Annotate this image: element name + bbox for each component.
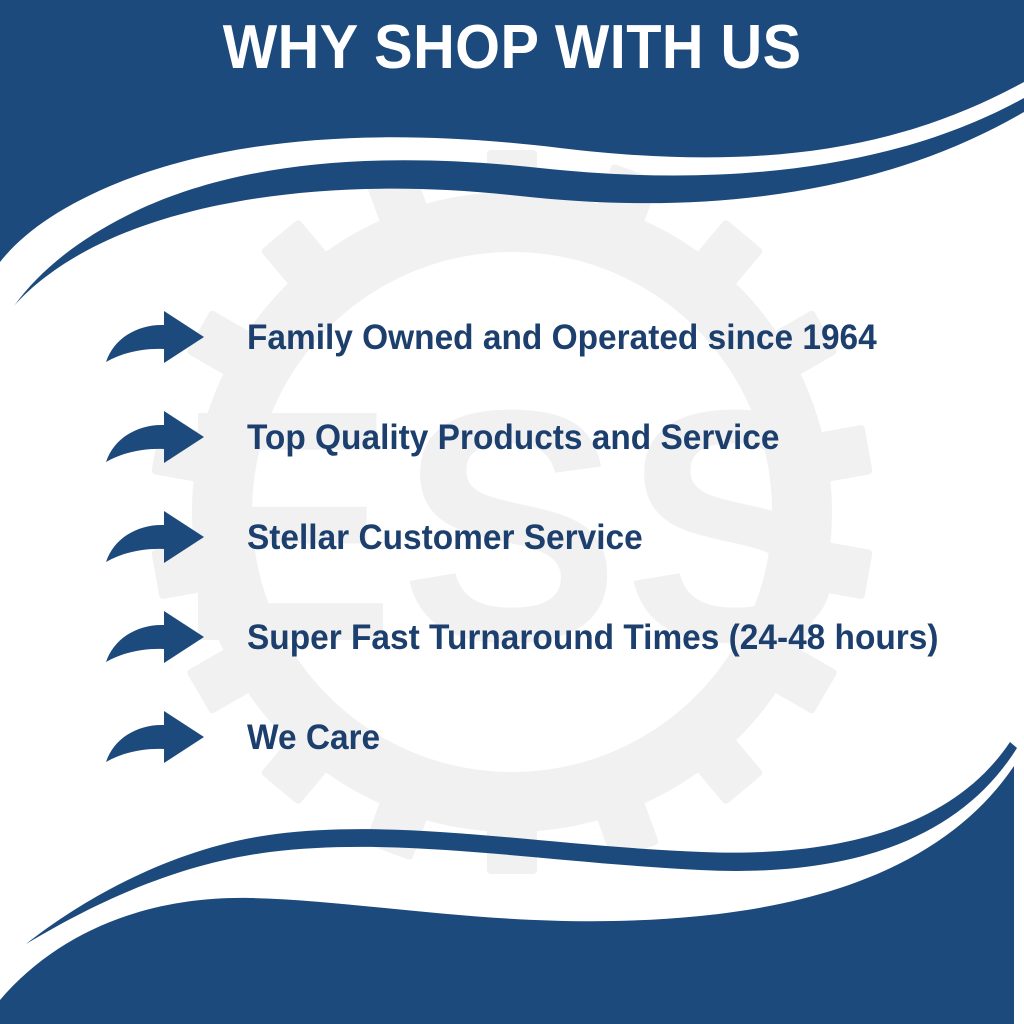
benefits-list: Family Owned and Operated since 1964 Top… <box>0 288 1024 788</box>
list-item-label: Super Fast Turnaround Times (24-48 hours… <box>247 619 939 658</box>
blue-wave-bottom <box>0 766 1014 1024</box>
list-item-label: Stellar Customer Service <box>247 519 643 558</box>
page-title-text: WHY SHOP WITH US <box>223 17 802 79</box>
curved-arrow-right-icon <box>104 610 206 666</box>
list-item: We Care <box>0 688 1024 788</box>
curved-arrow-right-icon <box>104 710 206 766</box>
promo-graphic: ESS WHY SHOP WITH US Family Owned and O <box>0 0 1024 1024</box>
page-title: WHY SHOP WITH US <box>0 0 1024 96</box>
list-item: Super Fast Turnaround Times (24-48 hours… <box>0 588 1024 688</box>
thin-swoosh-top <box>14 98 1024 306</box>
list-item-label: We Care <box>247 719 380 758</box>
list-item-label: Family Owned and Operated since 1964 <box>247 319 877 358</box>
list-item: Top Quality Products and Service <box>0 388 1024 488</box>
list-item: Stellar Customer Service <box>0 488 1024 588</box>
curved-arrow-right-icon <box>104 410 206 466</box>
list-item-label: Top Quality Products and Service <box>247 419 779 458</box>
curved-arrow-right-icon <box>104 310 206 366</box>
curved-arrow-right-icon <box>104 510 206 566</box>
list-item: Family Owned and Operated since 1964 <box>0 288 1024 388</box>
